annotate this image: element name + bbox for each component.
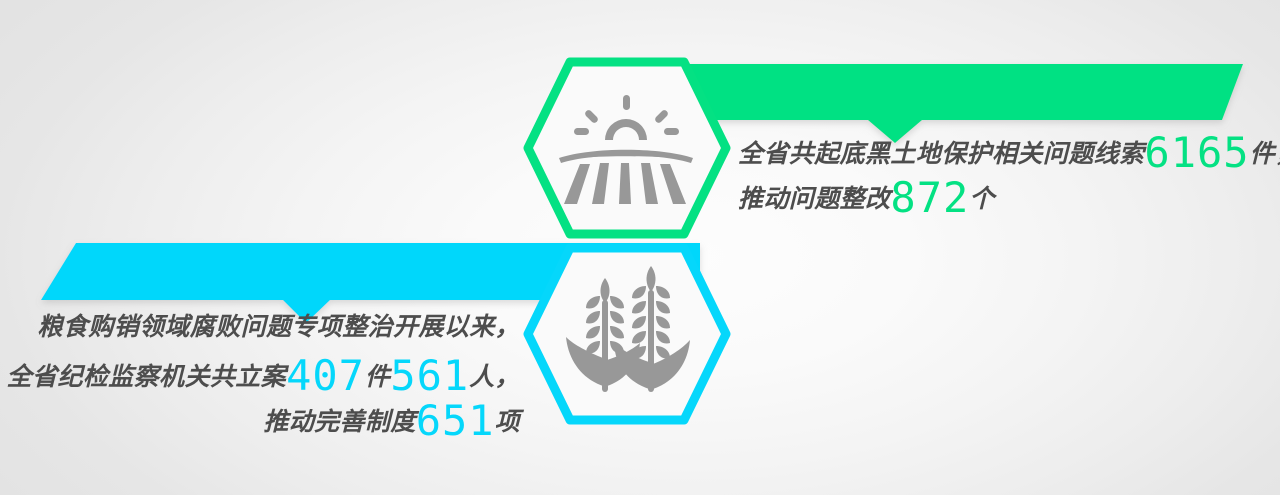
black-soil-line2-unit: 个 (969, 185, 994, 213)
black-soil-stat-6165: 6165 (1144, 128, 1249, 177)
grain-line3-text: 推动完善制度 (263, 408, 415, 436)
grain-line3-unit: 项 (495, 408, 520, 436)
grain-stat-407: 407 (286, 351, 365, 400)
black-soil-line1-unit: 件， (1250, 140, 1280, 168)
grain-procurement-hexagon[interactable] (528, 248, 726, 420)
grain-line2-text: 全省纪检监察机关共立案 (7, 363, 286, 391)
black-soil-line1-text: 全省共起底黑土地保护相关问题线索 (738, 140, 1144, 168)
infographic-canvas: 全省共起底黑土地保护相关问题线索6165件， 推动问题整改872个 粮食购销领域… (0, 0, 1280, 495)
grain-line2-unit-1: 件 (365, 363, 390, 391)
grain-stat-561: 561 (390, 351, 469, 400)
hexagon-outline-cyan (528, 248, 726, 420)
grain-line1-text: 粮食购销领域腐败问题专项整治开展以来， (37, 313, 520, 341)
grain-line-2: 全省纪检监察机关共立案407件561人， (7, 355, 520, 400)
black-soil-line2-text: 推动问题整改 (738, 185, 890, 213)
grain-stat-651: 651 (416, 396, 495, 445)
grain-line-1: 粮食购销领域腐败问题专项整治开展以来， (7, 310, 520, 355)
black-soil-text-block: 全省共起底黑土地保护相关问题线索6165件， 推动问题整改872个 (738, 132, 1280, 222)
black-soil-stat-872: 872 (890, 173, 969, 222)
grain-line-3: 推动完善制度651项 (7, 400, 520, 445)
grain-procurement-text-block: 粮食购销领域腐败问题专项整治开展以来， 全省纪检监察机关共立案407件561人，… (7, 310, 520, 445)
black-soil-line-2: 推动问题整改872个 (738, 177, 1280, 222)
grain-line2-unit-2: 人， (469, 363, 520, 391)
black-soil-line-1: 全省共起底黑土地保护相关问题线索6165件， (738, 132, 1280, 177)
